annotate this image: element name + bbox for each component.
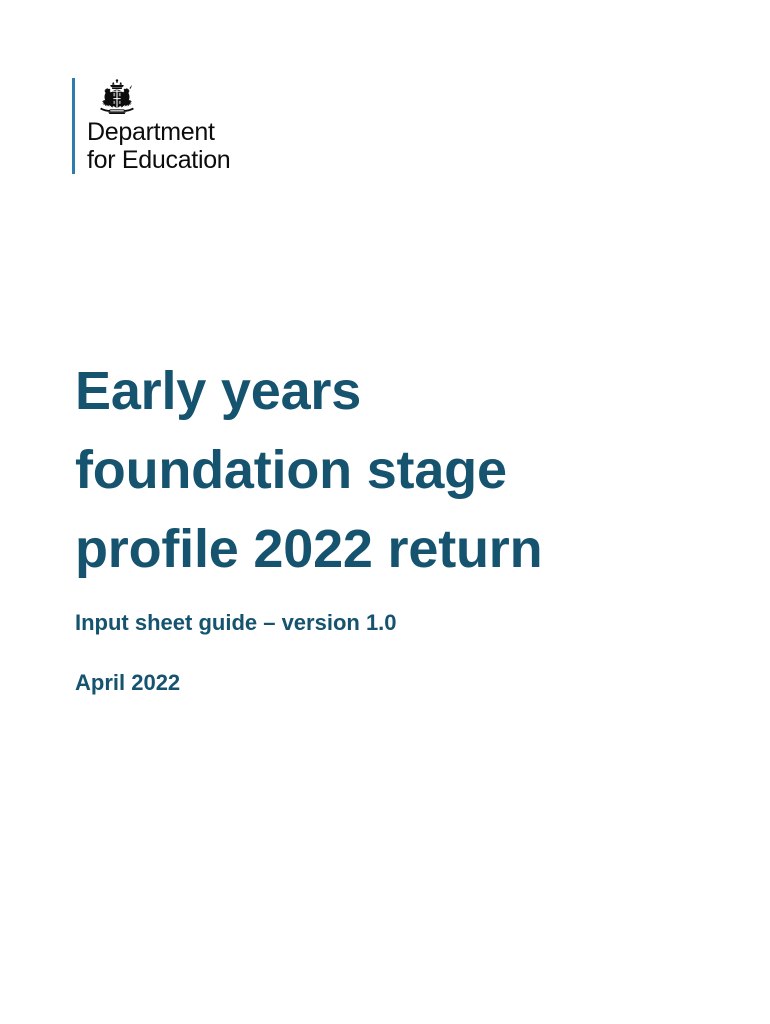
document-subtitle: Input sheet guide – version 1.0 bbox=[75, 608, 635, 638]
logo-content: Department for Education bbox=[75, 78, 230, 174]
document-page: Department for Education Early years fou… bbox=[0, 0, 770, 1024]
dfe-logo: Department for Education bbox=[72, 78, 230, 174]
subtitle-block: Input sheet guide – version 1.0 April 20… bbox=[75, 608, 635, 697]
publication-date: April 2022 bbox=[75, 668, 635, 698]
page-title: Early years foundation stage profile 202… bbox=[75, 352, 635, 588]
royal-coat-of-arms-icon bbox=[89, 78, 145, 115]
title-block: Early years foundation stage profile 202… bbox=[75, 352, 635, 588]
dfe-wordmark: Department for Education bbox=[87, 118, 230, 174]
